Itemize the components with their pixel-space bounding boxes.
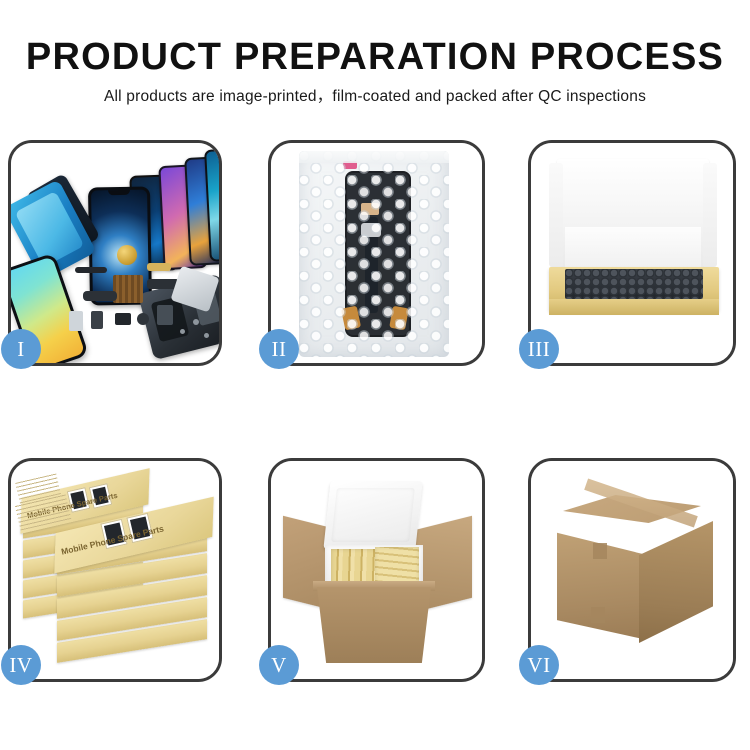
part-camera-icon xyxy=(91,311,103,329)
part-screw-icon xyxy=(204,333,209,338)
step-image-2 xyxy=(271,143,482,363)
part-battery-icon xyxy=(157,305,173,325)
bubble-fill-icon xyxy=(565,269,703,299)
foam-lid-icon xyxy=(323,481,422,549)
step-panel-3[interactable]: III xyxy=(528,140,736,366)
step-badge-1: I xyxy=(1,329,41,369)
foam-sheet-icon xyxy=(565,227,701,269)
bubble-bag-icon xyxy=(299,151,449,357)
step-badge-3: III xyxy=(519,329,559,369)
part-flex-icon xyxy=(147,263,171,271)
step-panel-5[interactable]: V xyxy=(268,458,485,682)
notch-icon xyxy=(108,190,130,195)
part-coin-icon xyxy=(117,245,137,265)
bubble-texture xyxy=(299,151,449,357)
part-speaker-icon xyxy=(115,313,131,325)
steps-grid: I II xyxy=(0,0,750,750)
step-image-4: Mobile Phone Spare Parts Mobile Phone Sp… xyxy=(11,461,219,679)
step-panel-2[interactable]: II xyxy=(268,140,485,366)
part-button-icon xyxy=(137,313,149,325)
step-panel-1[interactable]: I xyxy=(8,140,222,366)
step-badge-4: IV xyxy=(1,645,41,685)
part-flex-icon xyxy=(83,291,117,301)
part-sim-tray-icon xyxy=(69,311,83,331)
step-image-3 xyxy=(531,143,733,363)
carton-tab-icon xyxy=(591,607,605,623)
part-screw-icon xyxy=(193,319,199,325)
step-image-5 xyxy=(271,461,482,679)
step-badge-2: II xyxy=(259,329,299,369)
step-panel-6[interactable]: VI xyxy=(528,458,736,682)
step-image-6 xyxy=(531,461,733,679)
part-screw-icon xyxy=(180,329,185,334)
step-badge-5: V xyxy=(259,645,299,685)
step-image-1 xyxy=(11,143,219,363)
step-badge-6: VI xyxy=(519,645,559,685)
carton-side-face xyxy=(639,521,713,643)
bag-seal-icon xyxy=(299,151,449,163)
product-preparation-page: PRODUCT PREPARATION PROCESS All products… xyxy=(0,0,750,750)
step-panel-4[interactable]: Mobile Phone Spare Parts Mobile Phone Sp… xyxy=(8,458,222,682)
part-grid-icon xyxy=(113,275,143,303)
box-stack: Mobile Phone Spare Parts Mobile Phone Sp… xyxy=(17,477,219,667)
carton-body xyxy=(317,587,431,663)
part-strip-icon xyxy=(75,267,107,273)
box-tray-front xyxy=(549,299,719,315)
carton-tab-icon xyxy=(593,543,607,559)
